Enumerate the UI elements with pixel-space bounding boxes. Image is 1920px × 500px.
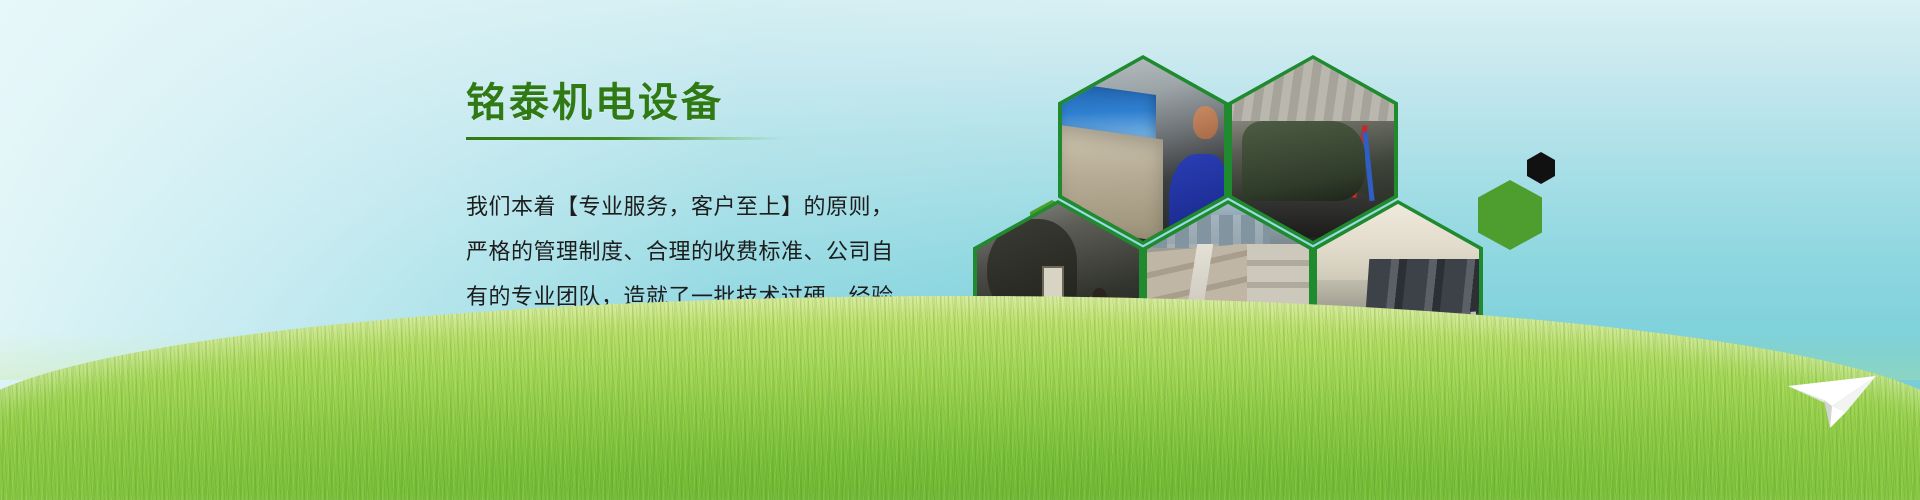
photo-compressor-room bbox=[1232, 59, 1394, 241]
deco-hex-black bbox=[1527, 152, 1555, 184]
paper-plane-icon bbox=[1784, 356, 1880, 432]
photo-yellow-tag bbox=[1290, 154, 1301, 169]
hero-banner: 铭泰机电设备 我们本着【专业服务，客户至上】的原则， 严格的管理制度、合理的收费… bbox=[0, 0, 1920, 500]
photo-worker-head bbox=[1193, 106, 1217, 139]
gallery-hex-1-inner bbox=[1062, 59, 1224, 241]
deco-hex-green-right bbox=[1478, 180, 1542, 250]
photo-label-plate bbox=[1094, 158, 1130, 185]
gallery-hex-2-inner bbox=[1232, 59, 1394, 241]
photo-ice-machine bbox=[1062, 59, 1224, 241]
photo-blue-hose bbox=[1363, 132, 1375, 201]
